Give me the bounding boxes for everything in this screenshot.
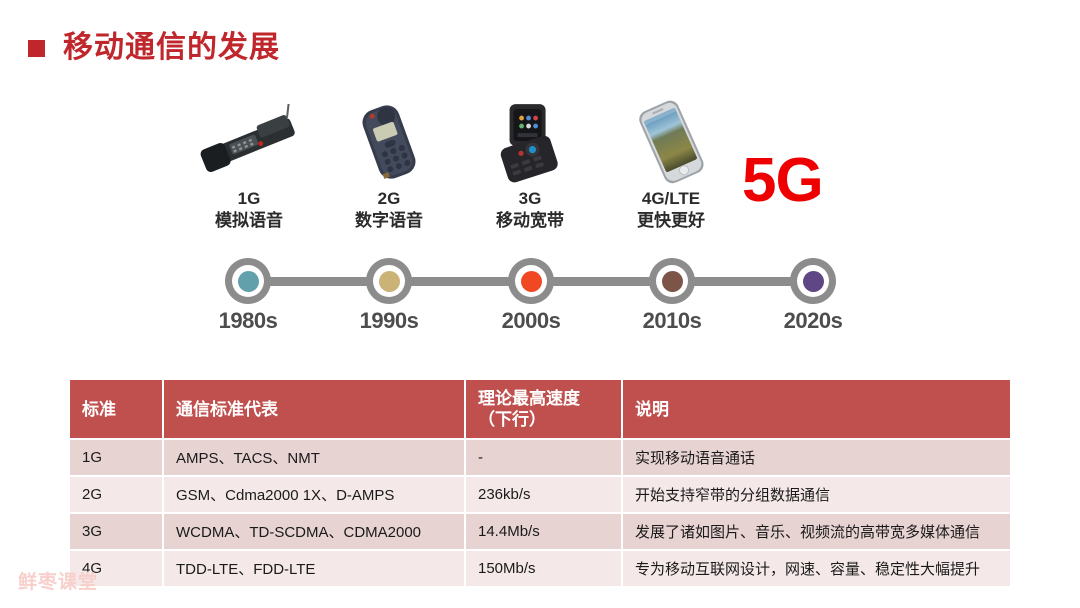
cell-standard: 2G [70,477,162,512]
cell-description: 开始支持窄带的分组数据通信 [623,477,1010,512]
page-title-text: 移动通信的发展 [63,33,280,63]
cell-representative: WCDMA、TD-SCDMA、CDMA2000 [164,514,464,549]
watermark-logo: 鲜枣课堂 [18,573,98,592]
page-title: 移动通信的发展 [28,33,280,63]
generation-item-3g: 3G 移动宽带 [459,96,601,246]
bullet-square-icon [28,40,45,57]
timeline-node-ring [515,265,547,297]
column-header-speed-line1: 理论最高速度 [478,389,580,408]
timeline-node-ring [232,265,264,297]
timeline-node-1990s[interactable] [366,258,412,304]
timeline-node-2010s[interactable] [649,258,695,304]
cell-speed: 150Mb/s [466,551,621,586]
timeline-node-ring [656,265,688,297]
spec-table-body: 1G AMPS、TACS、NMT - 实现移动语音通话 2G GSM、Cdma2… [70,440,1010,586]
timeline-node-dot [662,271,683,292]
generation-item-2g: 2G 数字语音 [318,96,460,246]
brick-phone-icon [178,96,320,184]
column-header-speed: 理论最高速度 （下行） [466,380,621,438]
generation-name: 3G [459,188,601,210]
cell-standard: 3G [70,514,162,549]
smartphone-icon [600,96,742,184]
table-row: 2G GSM、Cdma2000 1X、D-AMPS 236kb/s 开始支持窄带… [70,477,1010,512]
cell-speed: 14.4Mb/s [466,514,621,549]
timeline-node-2020s[interactable] [790,258,836,304]
timeline-node-ring [797,265,829,297]
generation-desc: 移动宽带 [459,210,601,232]
column-header-speed-line2: （下行） [478,410,546,429]
timeline-node-dot [521,271,542,292]
timeline-decade-labels: 1980s 1990s 2000s 2010s 2020s [178,308,878,340]
generation-name: 4G/LTE [600,188,742,210]
timeline-node-dot [803,271,824,292]
generation-desc: 模拟语音 [178,210,320,232]
timeline-node-1980s[interactable] [225,258,271,304]
cell-standard: 1G [70,440,162,475]
generation-desc: 更快更好 [600,210,742,232]
flip-phone-icon [459,96,601,184]
table-row: 4G TDD-LTE、FDD-LTE 150Mb/s 专为移动互联网设计，网速、… [70,551,1010,586]
cell-speed: - [466,440,621,475]
cell-representative: AMPS、TACS、NMT [164,440,464,475]
decade-label-2000s: 2000s [471,308,591,334]
fiveg-label: 5G [742,150,823,212]
cell-description: 专为移动互联网设计，网速、容量、稳定性大幅提升 [623,551,1010,586]
timeline-node-dot [238,271,259,292]
cell-description: 实现移动语音通话 [623,440,1010,475]
generation-name: 2G [318,188,460,210]
decade-label-2010s: 2010s [612,308,732,334]
column-header-description: 说明 [623,380,1010,438]
generation-item-1g: 1G 模拟语音 [178,96,320,246]
timeline [178,258,878,304]
generation-name: 1G [178,188,320,210]
timeline-node-dot [379,271,400,292]
decade-label-2020s: 2020s [753,308,873,334]
candybar-phone-icon [318,96,460,184]
cell-speed: 236kb/s [466,477,621,512]
decade-label-1980s: 1980s [188,308,308,334]
column-header-standard: 标准 [70,380,162,438]
cell-description: 发展了诸如图片、音乐、视频流的高带宽多媒体通信 [623,514,1010,549]
generation-desc: 数字语音 [318,210,460,232]
table-row: 1G AMPS、TACS、NMT - 实现移动语音通话 [70,440,1010,475]
cell-representative: TDD-LTE、FDD-LTE [164,551,464,586]
cell-representative: GSM、Cdma2000 1X、D-AMPS [164,477,464,512]
table-row: 3G WCDMA、TD-SCDMA、CDMA2000 14.4Mb/s 发展了诸… [70,514,1010,549]
generation-item-4g: 4G/LTE 更快更好 [600,96,742,246]
spec-table-head: 标准 通信标准代表 理论最高速度 （下行） 说明 [70,380,1010,438]
spec-table-wrapper: 标准 通信标准代表 理论最高速度 （下行） 说明 1G AMPS、TACS、NM… [68,378,1012,588]
timeline-node-2000s[interactable] [508,258,554,304]
column-header-representative: 通信标准代表 [164,380,464,438]
decade-label-1990s: 1990s [329,308,449,334]
spec-table: 标准 通信标准代表 理论最高速度 （下行） 说明 1G AMPS、TACS、NM… [68,378,1012,588]
timeline-node-ring [373,265,405,297]
table-header-row: 标准 通信标准代表 理论最高速度 （下行） 说明 [70,380,1010,438]
